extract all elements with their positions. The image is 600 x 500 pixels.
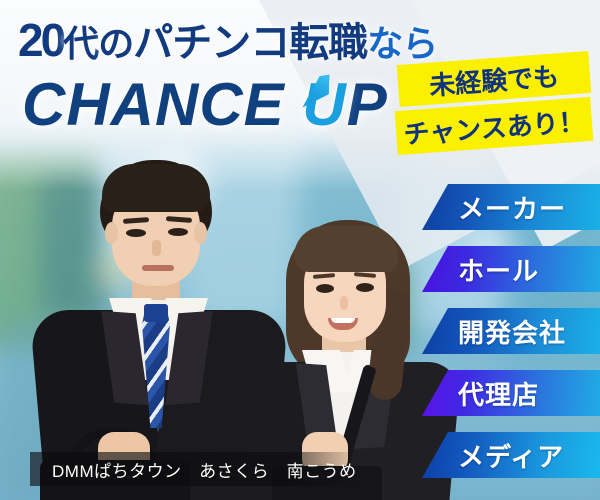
headline-keyword: パチンコ転職 — [133, 21, 367, 65]
woman-eye-left — [316, 284, 334, 293]
category-button-media[interactable]: メディア — [422, 432, 600, 478]
man-ear-left — [105, 222, 118, 244]
man-nose — [152, 240, 161, 256]
headline-number: 20 — [18, 14, 63, 66]
advertisement-banner[interactable]: 20代のパチンコ転職なら CHANCE UP 未経験でも チャンスあり！ メーカ… — [0, 0, 600, 500]
category-button-maker[interactable]: メーカー — [422, 184, 600, 230]
headline-dai: 代 — [63, 23, 98, 64]
man-fringe — [102, 164, 210, 212]
man-eye-right — [168, 228, 188, 236]
category-button-hall[interactable]: ホール — [422, 246, 600, 292]
woman-nose — [340, 296, 348, 310]
man-ear-right — [194, 222, 207, 244]
logo-chance-text: CHANCE — [22, 71, 285, 138]
man-eye-left — [126, 229, 146, 237]
headline-nara: なら — [367, 23, 437, 64]
woman-teeth — [331, 318, 355, 323]
headline-no: の — [98, 23, 133, 64]
man-tie-knot — [144, 304, 168, 322]
headline: 20代のパチンコ転職なら — [18, 16, 448, 64]
logo-p-letter: P — [347, 71, 388, 138]
man-mouth — [142, 265, 174, 271]
woman-eye-right — [356, 283, 374, 292]
category-button-agency[interactable]: 代理店 — [422, 370, 600, 416]
logo-chance-up: CHANCE UP — [22, 72, 422, 138]
category-button-development-company[interactable]: 開発会社 — [422, 308, 600, 354]
caption-credits: DMMぱちタウン あさくら 南こうめ — [30, 452, 360, 486]
woman-bangs — [294, 226, 398, 272]
